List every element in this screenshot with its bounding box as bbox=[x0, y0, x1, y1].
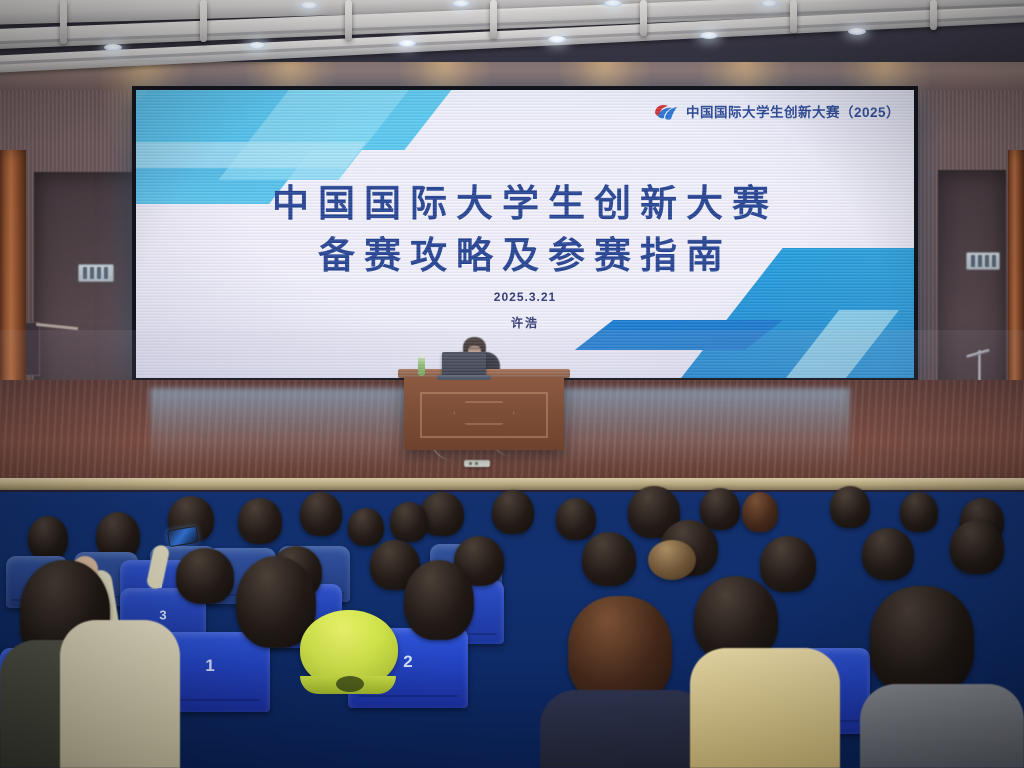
slide-band-topleft-pale bbox=[136, 142, 366, 168]
ceiling-downlight-icon bbox=[848, 28, 866, 35]
audience-shoulders bbox=[540, 690, 710, 768]
audience-hair-bun bbox=[648, 540, 696, 580]
seat-crease bbox=[358, 695, 459, 697]
ceiling-downlight-icon bbox=[104, 44, 122, 51]
slide-presenter-name: 许浩 bbox=[136, 314, 914, 331]
ceiling bbox=[0, 0, 1024, 62]
ceiling-downlight-icon bbox=[700, 32, 718, 39]
slide-header-text: 中国国际大学生创新大赛（2025） bbox=[686, 101, 900, 121]
audience-head bbox=[492, 490, 534, 534]
left-wall-panel bbox=[24, 322, 40, 376]
audience-head-front bbox=[568, 596, 672, 704]
left-wall-vent-icon bbox=[78, 264, 114, 282]
ceiling-downlight-icon bbox=[300, 2, 318, 9]
slide-title-line1: 中国国际大学生创新大赛 bbox=[136, 178, 914, 230]
audience-head bbox=[900, 492, 938, 532]
podium bbox=[404, 376, 564, 450]
audience-head-front bbox=[870, 586, 974, 694]
audience-head bbox=[176, 548, 234, 604]
water-bottle bbox=[418, 357, 425, 376]
audience-head bbox=[390, 502, 428, 542]
seat-number: 1 bbox=[205, 656, 214, 676]
seat-number: 2 bbox=[403, 652, 412, 672]
cap-back-hole bbox=[336, 676, 364, 692]
ceiling-downlight-icon bbox=[248, 42, 266, 49]
audience-head bbox=[28, 516, 68, 560]
slide-header: 中国国际大学生创新大赛（2025） bbox=[652, 100, 900, 122]
ceiling-downlight-icon bbox=[760, 0, 778, 7]
power-strip bbox=[464, 460, 490, 467]
ceiling-downlight-icon bbox=[548, 36, 566, 43]
slide-date: 2025.3.21 bbox=[136, 290, 914, 304]
audience-shoulders bbox=[860, 684, 1024, 768]
led-presentation-screen: 中国国际大学生创新大赛（2025） 中国国际大学生创新大赛 备赛攻略及参赛指南 … bbox=[132, 86, 918, 382]
competition-swirl-logo-icon bbox=[652, 100, 678, 122]
auditorium-photo: 中国国际大学生创新大赛（2025） 中国国际大学生创新大赛 备赛攻略及参赛指南 … bbox=[0, 0, 1024, 768]
laptop bbox=[442, 352, 486, 376]
audience-head-front bbox=[404, 560, 474, 640]
ceiling-downlight-icon bbox=[398, 40, 416, 47]
audience-head bbox=[238, 498, 282, 544]
audience-head bbox=[742, 492, 778, 532]
audience-head bbox=[700, 488, 740, 530]
ceiling-downlight-icon bbox=[452, 0, 470, 7]
audience-shoulders bbox=[60, 620, 180, 768]
audience-head bbox=[348, 508, 384, 546]
right-wall-vent-icon bbox=[966, 252, 1000, 270]
audience-head bbox=[582, 532, 636, 586]
slide-meta: 2025.3.21 许浩 bbox=[136, 290, 914, 331]
audience-head bbox=[862, 528, 914, 580]
audience-head bbox=[760, 536, 816, 592]
audience-head bbox=[300, 492, 342, 536]
slide-title-line2: 备赛攻略及参赛指南 bbox=[136, 230, 914, 282]
slide-surface: 中国国际大学生创新大赛（2025） 中国国际大学生创新大赛 备赛攻略及参赛指南 … bbox=[136, 90, 914, 378]
seat-number: 3 bbox=[159, 607, 166, 622]
audience-head bbox=[556, 498, 596, 540]
slide-title: 中国国际大学生创新大赛 备赛攻略及参赛指南 bbox=[136, 178, 914, 282]
ceiling-downlight-icon bbox=[604, 0, 622, 7]
audience-head bbox=[830, 486, 870, 528]
audience-head bbox=[950, 520, 1004, 574]
audience-shoulders bbox=[690, 648, 840, 768]
